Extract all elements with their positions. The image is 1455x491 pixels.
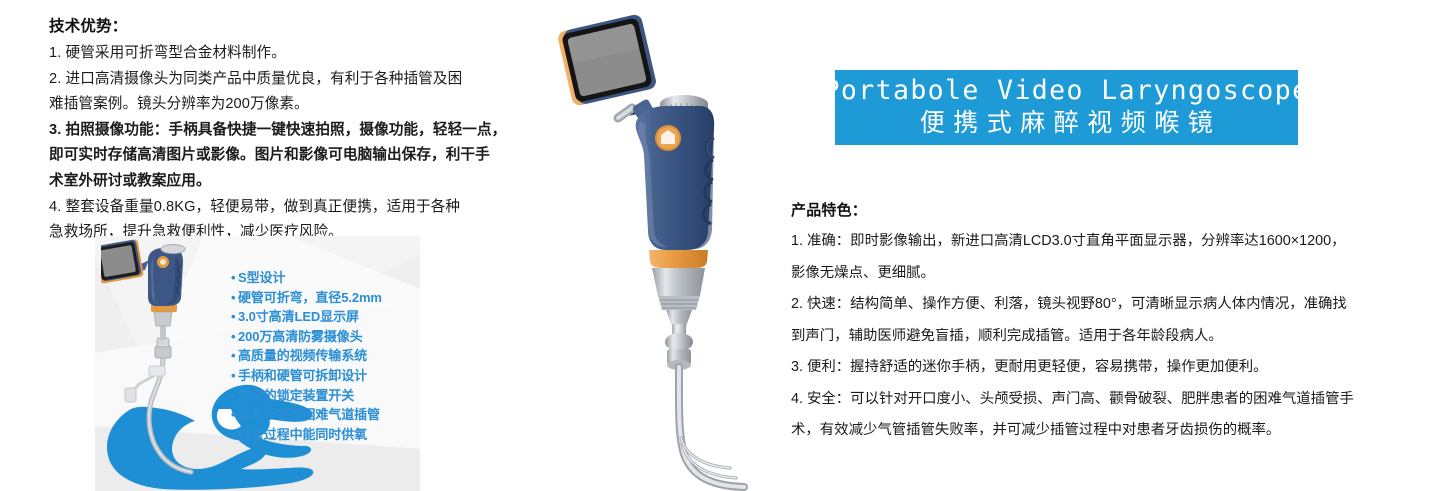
bullet-marker-icon: • <box>231 366 238 386</box>
feature-item: 4. 安全：可以针对开口度小、头颅受损、声门高、颧骨破裂、肥胖患者的困难气道插管… <box>791 384 1421 416</box>
lcd-screen <box>557 13 658 106</box>
product-features-section: 产品特色： 1. 准确：即时影像输出，新进口高清LCD3.0寸直角平面显示器，分… <box>791 196 1421 447</box>
product-device-small-illustration <box>101 238 251 478</box>
device-handle <box>636 106 715 250</box>
feature-bullet-item: •200万高清防雾摄像头 <box>231 327 420 347</box>
bullet-marker-icon: • <box>231 288 238 308</box>
product-features-heading: 产品特色： <box>791 196 1421 226</box>
feature-item: 术，有效减少气管插管失败率，并可减少插管过程中对患者牙齿损伤的概率。 <box>791 415 1421 447</box>
bullet-marker-icon: • <box>231 425 238 445</box>
tech-item: 即可实时存储高清图片或影像。图片和影像可电脑输出保存，利干手 <box>49 143 549 169</box>
feature-bullet-item: •3.0寸高清LED显示屏 <box>231 307 420 327</box>
tech-item: 术室外研讨或教案应用。 <box>49 169 549 195</box>
technical-advantages-heading: 技术优势： <box>49 14 549 40</box>
feature-bullet-item: •S型设计 <box>231 268 420 288</box>
feature-item: 影像无燥点、更细腻。 <box>791 258 1421 290</box>
banner-title-english: Portabole Video Laryngoscope <box>824 75 1310 107</box>
bullet-marker-icon: • <box>231 405 238 425</box>
feature-bullet-item: •安全的锁定装置开关 <box>231 386 420 406</box>
bullet-marker-icon: • <box>231 386 238 406</box>
feature-bullet-item: •手柄和硬管可拆卸设计 <box>231 366 420 386</box>
product-title-banner: Portabole Video Laryngoscope 便携式麻醉视频喉镜 <box>835 70 1298 145</box>
feature-item: 到声门，辅助医师避免盲插，顺利完成插管。适用于各年龄段病人。 <box>791 321 1421 353</box>
feature-bullet-label: 3.0寸高清LED显示屏 <box>238 309 359 324</box>
metal-base-collar <box>652 268 705 326</box>
capture-button <box>655 125 681 151</box>
feature-bullet-item: •高质量的视频传输系统 <box>231 346 420 366</box>
tech-item: 3. 拍照摄像功能：手柄具备快捷一键快速拍照，摄像功能，轻轻一点， <box>49 118 549 144</box>
tech-item: 1. 硬管采用可折弯型合金材料制作。 <box>49 41 549 67</box>
bullet-marker-icon: • <box>231 327 238 347</box>
feature-bullet-label: 手柄和硬管可拆卸设计 <box>238 368 367 383</box>
rigid-stylet-shaft <box>679 367 744 487</box>
tech-item: 2. 进口高清摄像头为同类产品中质量优良，有利于各种插管及困 <box>49 67 549 93</box>
bullet-marker-icon: • <box>231 268 238 288</box>
bullet-marker-icon: • <box>231 346 238 366</box>
product-device-main-illustration <box>548 4 778 491</box>
banner-title-chinese: 便携式麻醉视频喉镜 <box>912 107 1222 140</box>
tech-item: 难插管案例。镜头分辨率为200万像素。 <box>49 92 549 118</box>
feature-item: 1. 准确：即时影像输出，新进口高清LCD3.0寸直角平面显示器，分辨率达160… <box>791 226 1421 258</box>
technical-advantages-section: 技术优势： 1. 硬管采用可折弯型合金材料制作。 2. 进口高清摄像头为同类产品… <box>49 14 549 246</box>
feature-item: 3. 便利：握持舒适的迷你手柄，更耐用更轻便，容易携带，操作更加便利。 <box>791 352 1421 384</box>
feature-bullet-label: 200万高清防雾摄像头 <box>238 329 363 344</box>
feature-bullet-label: 适用于各类困难气道插管 <box>238 407 380 422</box>
feature-bullet-label: 硬管可折弯，直径5.2mm <box>238 290 382 305</box>
feature-bullet-label: 安全的锁定装置开关 <box>238 388 354 403</box>
product-page: 技术优势： 1. 硬管采用可折弯型合金材料制作。 2. 进口高清摄像头为同类产品… <box>0 0 1455 491</box>
feature-bullet-label: 高质量的视频传输系统 <box>238 348 367 363</box>
feature-item: 2. 快速：结构简单、操作方便、利落，镜头视野80°，可清晰显示病人体内情况，准… <box>791 289 1421 321</box>
feature-bullet-label: 插管过程中能同时供氧 <box>238 427 367 442</box>
feature-bullet-item: •插管过程中能同时供氧 <box>231 425 420 445</box>
product-feature-panel: •S型设计 •硬管可折弯，直径5.2mm •3.0寸高清LED显示屏 •200万… <box>95 236 420 491</box>
orange-base-band <box>649 250 708 268</box>
tech-item: 4. 整套设备重量0.8KG，轻便易带，做到真正便携，适用于各种 <box>49 195 549 221</box>
feature-bullet-list: •S型设计 •硬管可折弯，直径5.2mm •3.0寸高清LED显示屏 •200万… <box>231 268 420 444</box>
feature-bullet-label: S型设计 <box>238 270 285 285</box>
feature-bullet-item: •硬管可折弯，直径5.2mm <box>231 288 420 308</box>
bullet-marker-icon: • <box>231 307 238 327</box>
feature-bullet-item: •适用于各类困难气道插管 <box>231 405 420 425</box>
